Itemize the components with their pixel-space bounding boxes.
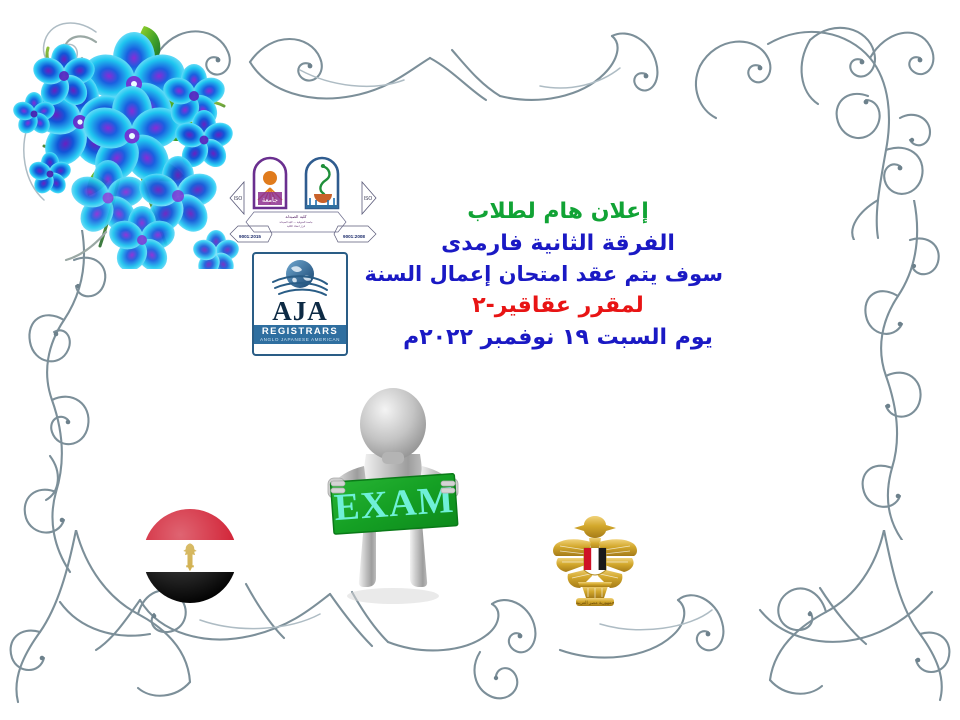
cert-right-text: 9001:2008 (343, 234, 365, 239)
exam-figure: EXAM (318, 382, 468, 607)
blue-flower-bouquet (8, 14, 248, 269)
svg-text:قرار انشاء الكلية: قرار انشاء الكلية (287, 225, 306, 228)
globe-icon (269, 258, 331, 298)
faculty-caption: كلية الصيدلة (285, 214, 306, 219)
announcement-slide: ISO ISO جامعة (0, 0, 960, 720)
menoufia-university-emblem: جامعة (254, 158, 286, 208)
announcement-line-4: لمقرر عقاقير-٢ (393, 292, 723, 320)
eagle-of-saladin-emblem: جمهورية مصر العربية (548, 512, 642, 608)
svg-text:جامعة المنوفية — كلية الصيدلة: جامعة المنوفية — كلية الصيدلة (279, 221, 313, 224)
announcement-line-5: يوم السبت ١٩ نوفمبر ٢٠٢٢م (393, 324, 723, 352)
egypt-flag (142, 508, 238, 604)
exam-sign-text: EXAM (333, 479, 456, 529)
announcement-text-block: إعلان هام لطلاب الفرقة الثانية فارمدى سو… (393, 198, 723, 355)
announcement-line-1: إعلان هام لطلاب (393, 198, 723, 226)
exam-sign: EXAM (330, 474, 457, 535)
svg-text:جامعة: جامعة (262, 196, 278, 204)
iso-badge-left-text: ISO (234, 196, 243, 202)
aja-registrars-band: REGISTRARS (254, 325, 346, 337)
faculty-of-pharmacy-logo: ISO ISO جامعة (228, 152, 378, 244)
border-left-swirls (0, 230, 130, 580)
aja-registrars-logo: AJA REGISTRARS ANGLO JAPANESE AMERICAN (252, 252, 348, 356)
border-corner-bottom-right (760, 530, 960, 720)
pharmacy-serpent-emblem (306, 158, 338, 208)
announcement-line-2: الفرقة الثانية فارمدى (393, 230, 723, 258)
cert-left-text: 9001:2015 (239, 234, 261, 239)
announcement-line-3: سوف يتم عقد امتحان إعمال السنة (393, 261, 723, 287)
aja-wordmark: AJA (272, 299, 328, 325)
aja-subtitle: ANGLO JAPANESE AMERICAN (254, 337, 346, 344)
eagle-inscription: جمهورية مصر العربية (576, 601, 615, 606)
iso-badge-right-text: ISO (364, 196, 373, 202)
border-right-swirls (840, 200, 960, 540)
border-corner-top-right (750, 0, 960, 240)
